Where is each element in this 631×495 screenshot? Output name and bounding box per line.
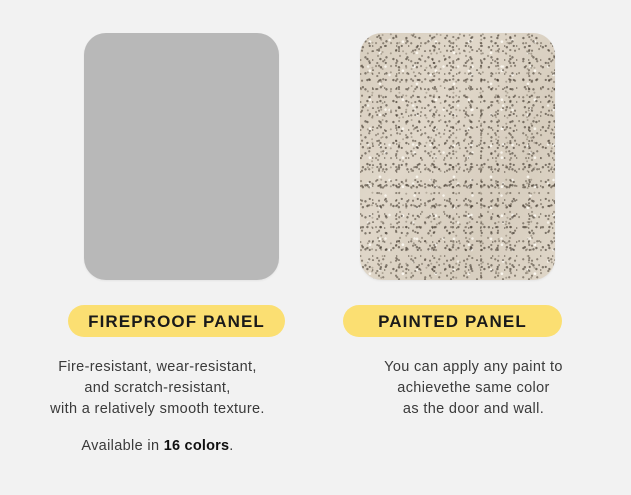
painted-panel-column: PAINTED PANEL You can apply any paint to… <box>316 0 631 495</box>
painted-panel-description: You can apply any paint to achievethe sa… <box>316 357 631 420</box>
color-count-value: 16 colors <box>164 438 229 454</box>
panel-comparison-board: FIREPROOF PANEL Fire-resistant, wear-res… <box>0 0 631 495</box>
fireproof-panel-pill: FIREPROOF PANEL <box>68 305 285 337</box>
fireproof-panel-swatch <box>84 33 279 280</box>
painted-panel-swatch <box>360 33 555 280</box>
fireproof-panel-column: FIREPROOF PANEL Fire-resistant, wear-res… <box>0 0 315 495</box>
fireproof-panel-color-count: Available in 16 colors. <box>0 438 315 454</box>
painted-panel-pill: PAINTED PANEL <box>343 305 562 337</box>
description-line: You can apply any paint to <box>316 357 631 378</box>
description-line: and scratch-resistant, <box>0 378 315 399</box>
description-line: achievethe same color <box>316 378 631 399</box>
description-line: Fire-resistant, wear-resistant, <box>0 357 315 378</box>
description-line: with a relatively smooth texture. <box>0 399 315 420</box>
fireproof-panel-description: Fire-resistant, wear-resistant, and scra… <box>0 357 315 420</box>
painted-panel-pill-label: PAINTED PANEL <box>378 313 527 330</box>
fireproof-panel-pill-label: FIREPROOF PANEL <box>88 313 265 330</box>
color-count-prefix: Available in <box>81 438 163 454</box>
color-count-suffix: . <box>229 438 233 454</box>
description-line: as the door and wall. <box>316 399 631 420</box>
